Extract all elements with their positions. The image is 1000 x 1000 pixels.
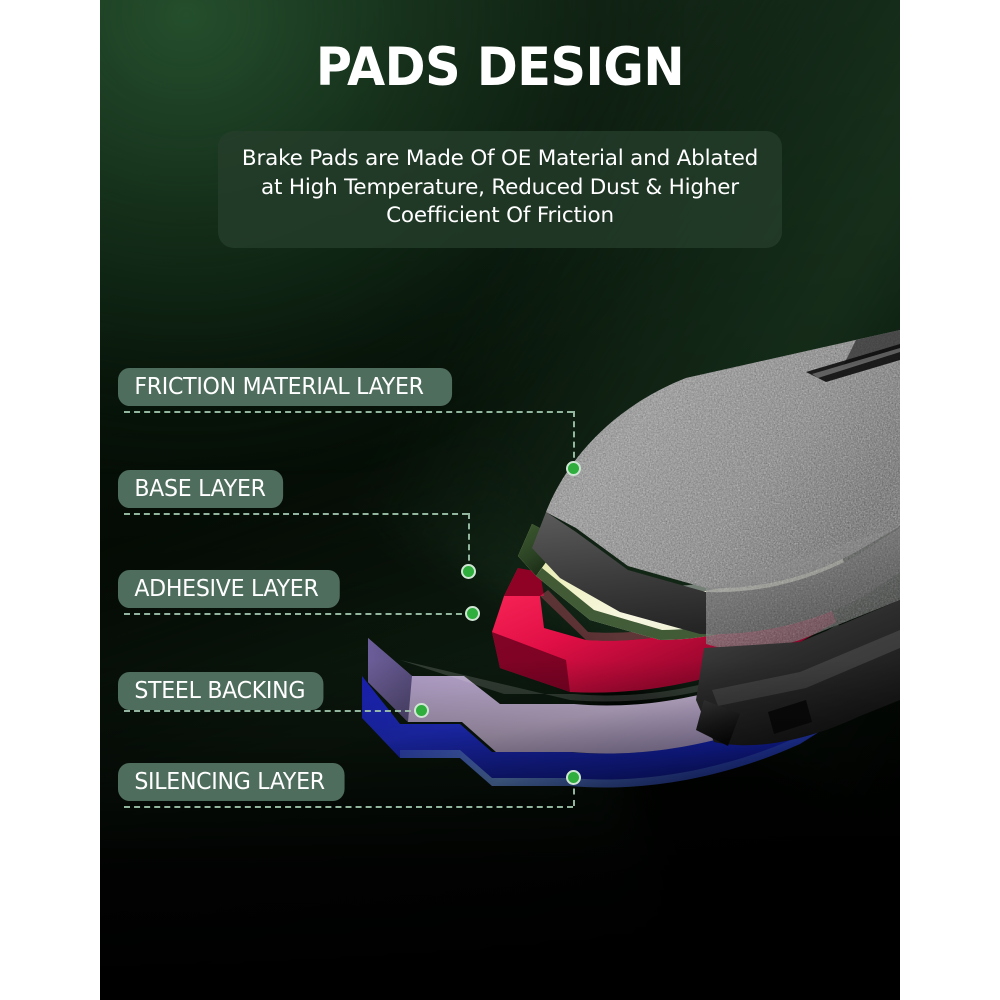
leader-line-h-friction-material-layer: [124, 411, 573, 413]
page-title: PADS DESIGN: [128, 40, 872, 96]
artboard: PADS DESIGN Brake Pads are Made Of OE Ma…: [100, 0, 900, 1000]
callout-label-text: STEEL BACKING: [134, 678, 305, 704]
callout-dot-friction-material-layer: [566, 461, 581, 476]
callout-label-friction-material-layer[interactable]: FRICTION MATERIAL LAYER: [118, 368, 452, 406]
subtitle-text: Brake Pads are Made Of OE Material and A…: [240, 145, 760, 231]
callout-dot-base-layer: [461, 564, 476, 579]
callout-label-silencing-layer[interactable]: SILENCING LAYER: [118, 763, 345, 801]
leader-line-v-friction-material-layer: [573, 411, 575, 468]
leader-line-h-base-layer: [124, 513, 468, 515]
callout-dot-steel-backing: [414, 703, 429, 718]
infographic-canvas: PADS DESIGN Brake Pads are Made Of OE Ma…: [0, 0, 1000, 1000]
callout-label-text: SILENCING LAYER: [134, 769, 325, 795]
leader-line-h-steel-backing: [124, 710, 421, 712]
callout-label-text: FRICTION MATERIAL LAYER: [134, 374, 423, 400]
callout-dot-silencing-layer: [566, 770, 581, 785]
callout-label-steel-backing[interactable]: STEEL BACKING: [118, 672, 323, 710]
callout-label-base-layer[interactable]: BASE LAYER: [118, 470, 283, 508]
callout-label-text: BASE LAYER: [134, 476, 265, 502]
leader-line-h-adhesive-layer: [124, 613, 472, 615]
leader-line-v-base-layer: [468, 513, 470, 571]
callout-dot-adhesive-layer: [465, 606, 480, 621]
callout-label-adhesive-layer[interactable]: ADHESIVE LAYER: [118, 570, 340, 608]
callout-label-text: ADHESIVE LAYER: [134, 576, 318, 602]
subtitle-panel: Brake Pads are Made Of OE Material and A…: [218, 131, 782, 248]
leader-line-h-silencing-layer: [124, 806, 573, 808]
